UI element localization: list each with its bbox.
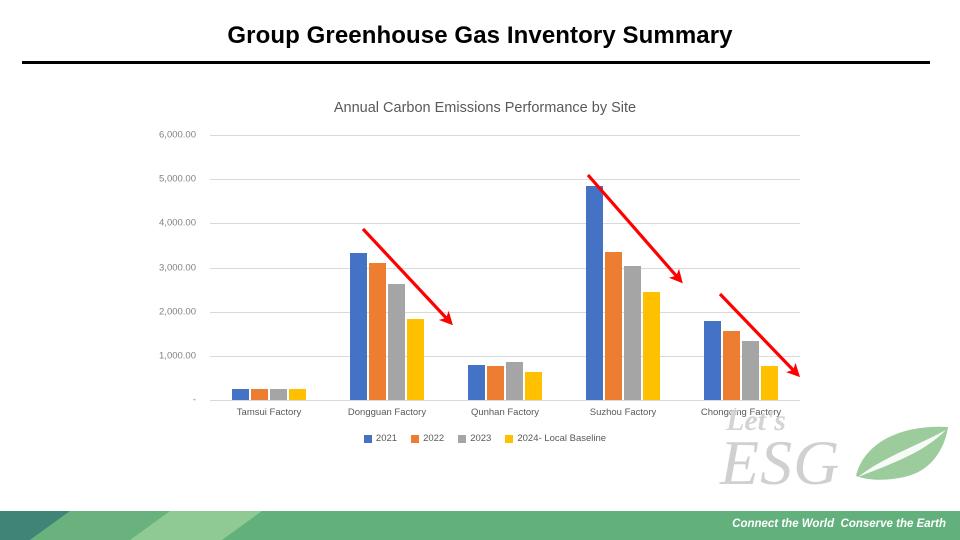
chart-gridline: [210, 135, 800, 136]
chart-bar: [586, 186, 603, 400]
x-axis-tick-label: Suzhou Factory: [590, 407, 657, 418]
chart-bar: [487, 366, 504, 400]
watermark-lets-esg: Let's ESG: [718, 404, 956, 500]
chart-bar: [643, 292, 660, 400]
y-axis-tick-label: 4,000.00: [106, 218, 196, 229]
legend-swatch: [458, 435, 466, 443]
chart-gridline: [210, 312, 800, 313]
y-axis-tick-label: -: [106, 395, 196, 406]
chart-bar: [624, 266, 641, 400]
chart-bar: [506, 362, 523, 400]
x-axis-line: [210, 400, 800, 401]
x-axis-tick-label: Tamsui Factory: [237, 407, 301, 418]
y-axis-tick-label: 6,000.00: [106, 130, 196, 141]
chart-bar: [525, 372, 542, 400]
footer-bar: Connect the World Conserve the Earth: [0, 511, 960, 540]
title-divider: [22, 61, 930, 64]
page-title: Group Greenhouse Gas Inventory Summary: [0, 22, 960, 50]
chart-bar: [388, 284, 405, 400]
legend-swatch: [364, 435, 372, 443]
legend-label: 2024- Local Baseline: [517, 433, 606, 444]
chart-bar: [742, 341, 759, 400]
chart-bar: [350, 253, 367, 400]
chart-plot-area: -1,000.002,000.003,000.004,000.005,000.0…: [210, 135, 800, 400]
chart-bar: [270, 389, 287, 400]
legend-item: 2021: [364, 433, 397, 444]
chart-bar: [605, 252, 622, 400]
x-axis-tick-label: Qunhan Factory: [471, 407, 539, 418]
y-axis-tick-label: 1,000.00: [106, 350, 196, 361]
chart-bar: [468, 365, 485, 400]
chart-bar: [704, 321, 721, 400]
legend-label: 2023: [470, 433, 491, 444]
legend-item: 2023: [458, 433, 491, 444]
legend-swatch: [505, 435, 513, 443]
chart-gridline: [210, 223, 800, 224]
chart-gridline: [210, 179, 800, 180]
chart-bar: [289, 389, 306, 400]
y-axis-tick-label: 3,000.00: [106, 262, 196, 273]
watermark-esg-text: ESG: [720, 426, 840, 500]
chart-bar: [407, 319, 424, 400]
leaf-icon: [852, 422, 952, 486]
x-axis-tick-label: Dongguan Factory: [348, 407, 426, 418]
footer-tagline: Connect the World Conserve the Earth: [732, 518, 946, 530]
chart-bar: [761, 366, 778, 400]
chart-gridline: [210, 268, 800, 269]
chart-bar: [251, 389, 268, 400]
legend-item: 2022: [411, 433, 444, 444]
chart-bar: [723, 331, 740, 400]
chart-container: Annual Carbon Emissions Performance by S…: [150, 88, 820, 458]
legend-item: 2024- Local Baseline: [505, 433, 606, 444]
chart-bar: [232, 389, 249, 400]
chart-bar: [369, 263, 386, 400]
y-axis-tick-label: 5,000.00: [106, 174, 196, 185]
legend-swatch: [411, 435, 419, 443]
legend-label: 2022: [423, 433, 444, 444]
y-axis-tick-label: 2,000.00: [106, 306, 196, 317]
chart-title: Annual Carbon Emissions Performance by S…: [150, 100, 820, 116]
legend-label: 2021: [376, 433, 397, 444]
